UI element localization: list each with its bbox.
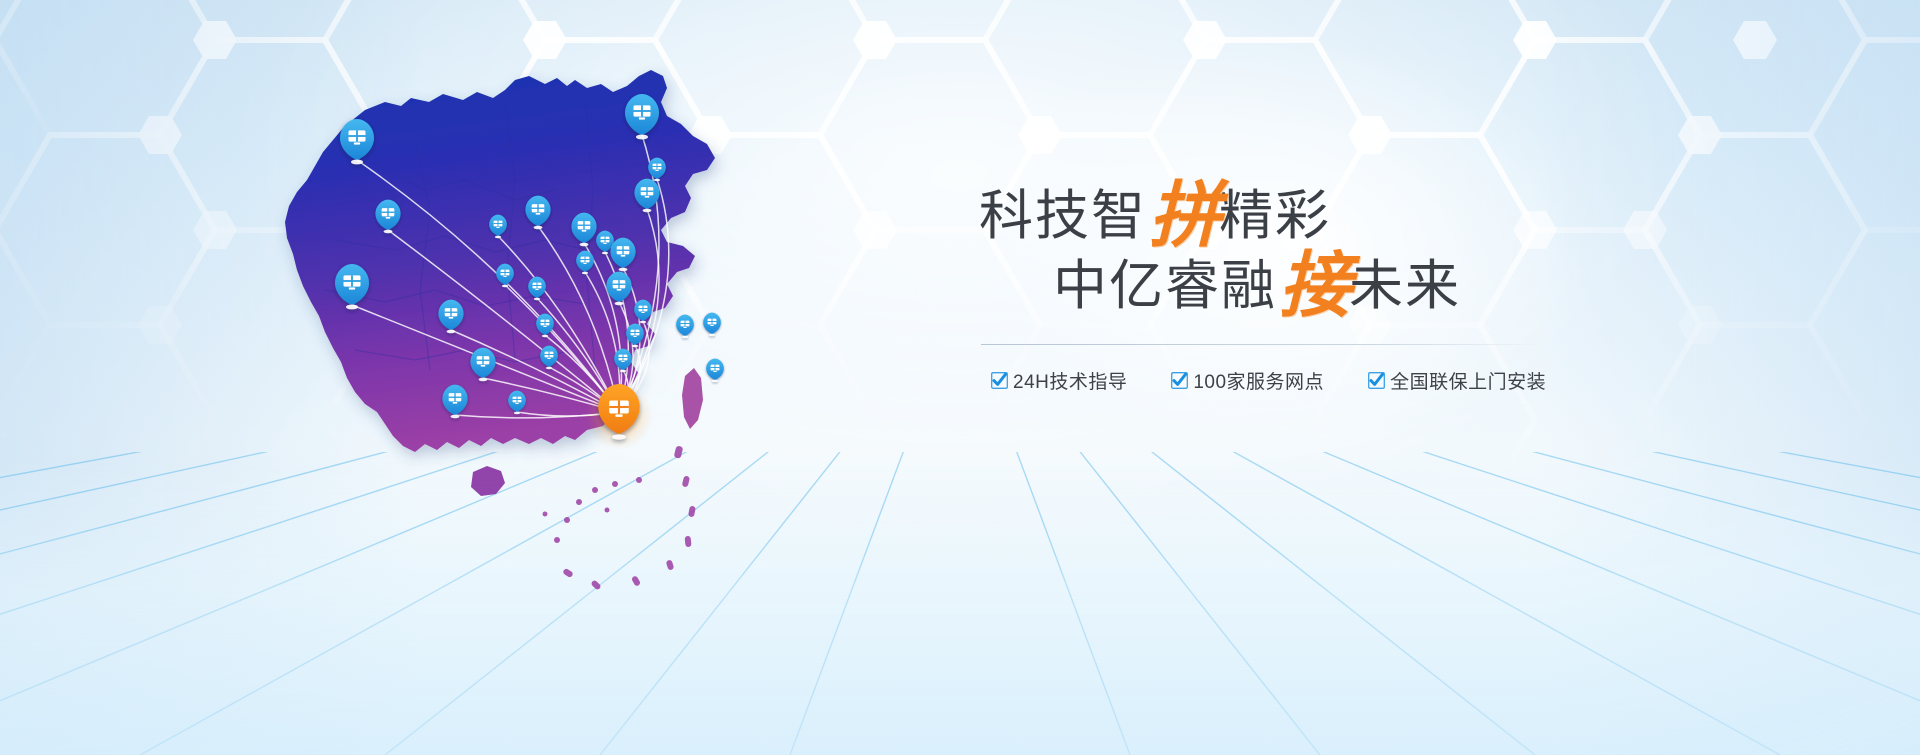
check-icon: [1368, 372, 1385, 389]
headline-1-accent: 拼: [1149, 172, 1221, 257]
map-pin-taiwan[interactable]: [676, 315, 694, 339]
check-icon: [1171, 372, 1188, 389]
china-map: [215, 40, 815, 620]
headline-1-post: 精彩: [1219, 186, 1331, 246]
hero-banner: 科技智拼精彩 中亿睿融接未来 24H技术指导100家服务网点全国联保上门安装: [0, 0, 1920, 755]
china-map-svg: [215, 40, 815, 620]
feature-list: 24H技术指导100家服务网点全国联保上门安装: [991, 367, 1615, 394]
feature-item: 24H技术指导: [991, 367, 1127, 394]
headline-line-2: 中亿睿融接未来: [975, 255, 1615, 319]
feature-label: 24H技术指导: [1013, 367, 1127, 394]
map-pin-taiwan-2[interactable]: [703, 313, 721, 337]
south-sea-islands: [543, 445, 696, 590]
check-icon: [991, 372, 1008, 389]
hainan-island: [471, 466, 505, 496]
taiwan-island: [682, 368, 703, 429]
headline-2-accent: 接: [1279, 242, 1351, 327]
headline-1-pre: 科技智: [979, 186, 1147, 246]
headline-2-pre: 中亿睿融: [1053, 256, 1277, 316]
feature-item: 全国联保上门安装: [1368, 367, 1546, 394]
headline-line-1: 科技智拼精彩: [975, 185, 1615, 249]
feature-label: 100家服务网点: [1193, 367, 1324, 394]
headline-divider: [981, 344, 1541, 345]
map-pin-hainan-sea[interactable]: [706, 359, 724, 383]
hero-text-block: 科技智拼精彩 中亿睿融接未来 24H技术指导100家服务网点全国联保上门安装: [975, 185, 1615, 394]
headline-2-post: 未来: [1349, 256, 1461, 316]
feature-item: 100家服务网点: [1171, 367, 1324, 394]
feature-label: 全国联保上门安装: [1390, 367, 1546, 394]
